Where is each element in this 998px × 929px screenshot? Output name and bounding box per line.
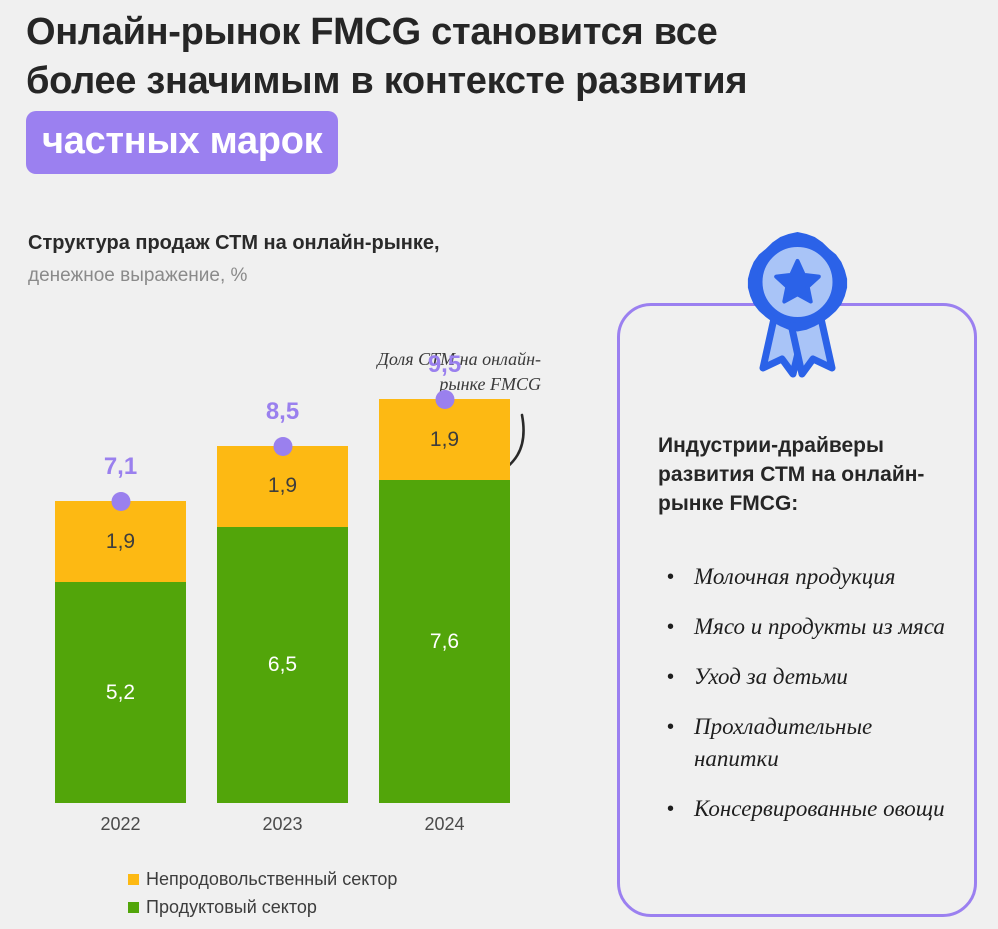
- list-item: •Молочная продукция: [658, 561, 958, 593]
- total-value-label: 9,5: [379, 351, 510, 379]
- list-item-label: Прохладительные напитки: [694, 714, 872, 771]
- bullet-icon: •: [667, 793, 674, 825]
- bar-segment-label: 5,2: [106, 681, 135, 705]
- bar-segment-food[interactable]: 6,5: [217, 527, 348, 803]
- list-item-label: Консервированные овощи: [694, 796, 945, 821]
- square-swatch-green-icon: [128, 902, 139, 913]
- bar-segment-nonfood[interactable]: 1,9: [55, 501, 186, 582]
- bullet-icon: •: [667, 561, 674, 593]
- list-item-label: Молочная продукция: [694, 564, 896, 589]
- bar-segment-label: 1,9: [268, 474, 297, 498]
- bar-group-0[interactable]: 1,95,27,12022: [55, 501, 186, 803]
- list-item: •Уход за детьми: [658, 661, 958, 693]
- legend-label-1: Продуктовый сектор: [146, 897, 317, 918]
- list-item-label: Мясо и продукты из мяса: [694, 614, 945, 639]
- bullet-icon: •: [667, 711, 674, 743]
- x-axis-label: 2022: [55, 814, 186, 835]
- bar-group-2[interactable]: 1,97,69,52024: [379, 399, 510, 803]
- chart-legend: Непродовольственный сектор Продуктовый с…: [128, 865, 397, 921]
- legend-item-0[interactable]: Непродовольственный сектор: [128, 865, 397, 893]
- chart-plot-area: 1,95,27,12022 1,96,58,52023 1,97,69,5202…: [0, 225, 600, 845]
- total-marker-dot[interactable]: [111, 492, 130, 511]
- bullet-icon: •: [667, 611, 674, 643]
- drivers-panel-heading: Индустрии-драйверы развития СТМ на онлай…: [658, 431, 948, 518]
- x-axis-label: 2024: [379, 814, 510, 835]
- square-swatch-orange-icon: [128, 874, 139, 885]
- drivers-panel: Индустрии-драйверы развития СТМ на онлай…: [617, 303, 977, 917]
- headline-highlight-badge: частных марок: [26, 111, 338, 174]
- x-axis-label: 2023: [217, 814, 348, 835]
- legend-item-1[interactable]: Продуктовый сектор: [128, 893, 397, 921]
- list-item: •Прохладительные напитки: [658, 711, 958, 775]
- bar-segment-food[interactable]: 5,2: [55, 582, 186, 803]
- bar-segment-label: 1,9: [430, 428, 459, 452]
- total-marker-dot[interactable]: [273, 437, 292, 456]
- drivers-list: •Молочная продукция •Мясо и продукты из …: [658, 561, 958, 843]
- total-value-label: 7,1: [55, 453, 186, 481]
- headline-highlight-wrap: частных марок: [26, 111, 976, 174]
- bar-segment-nonfood[interactable]: 1,9: [379, 399, 510, 480]
- page-headline: Онлайн-рынок FMCG становится все более з…: [26, 8, 976, 174]
- bar-segment-label: 1,9: [106, 530, 135, 554]
- chart-block: Структура продаж СТМ на онлайн-рынке, де…: [0, 225, 600, 925]
- list-item: •Консервированные овощи: [658, 793, 958, 825]
- award-medal-icon: [735, 228, 860, 378]
- bar-group-1[interactable]: 1,96,58,52023: [217, 446, 348, 803]
- headline-line-2: более значимым в контексте развития: [26, 57, 976, 106]
- list-item: •Мясо и продукты из мяса: [658, 611, 958, 643]
- bar-segment-nonfood[interactable]: 1,9: [217, 446, 348, 527]
- list-item-label: Уход за детьми: [694, 664, 848, 689]
- total-marker-dot[interactable]: [435, 390, 454, 409]
- bullet-icon: •: [667, 661, 674, 693]
- headline-line-1: Онлайн-рынок FMCG становится все: [26, 8, 976, 57]
- bar-segment-label: 7,6: [430, 630, 459, 654]
- bar-segment-food[interactable]: 7,6: [379, 480, 510, 803]
- total-value-label: 8,5: [217, 398, 348, 426]
- bar-segment-label: 6,5: [268, 653, 297, 677]
- legend-label-0: Непродовольственный сектор: [146, 869, 397, 890]
